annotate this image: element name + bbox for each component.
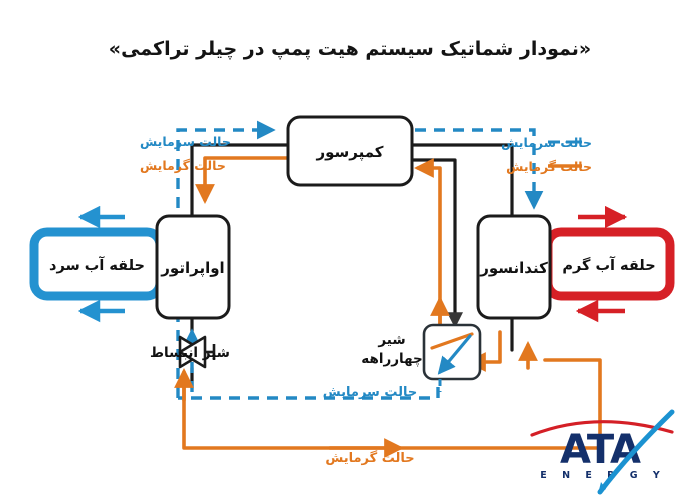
legend-left-heating-label: حالت گرمایش [140,158,226,173]
logo-ata-text: ATA [560,427,641,473]
evaporator-component[interactable]: اواپراتور [157,216,229,318]
logo-tagline-text: E N E R G Y [540,470,665,481]
page-title: «نمودار شماتیک سیستم هیت پمپ در چیلر ترا… [109,38,591,60]
compressor-label: کمپرسور [315,143,383,162]
schematic-diagram: «نمودار شماتیک سیستم هیت پمپ در چیلر ترا… [0,0,700,500]
ata-energy-logo: ATA E N E R G Y [532,412,672,494]
heating-path-valve-to-compressor [418,168,440,330]
bottom-cooling-path-label: حالت سرمایش [323,385,417,400]
legend-right-heating-label: حالت گرمایش [506,159,592,174]
four-way-valve-component[interactable]: شیر چهارراهه [361,325,480,392]
condenser-label: کندانسور [479,259,548,277]
hot-water-loop: حلقه آب گرم [548,217,670,311]
legend-right-cooling-label: حالت سرمایش [501,135,592,150]
cold-water-loop: حلقه آب سرد [34,217,160,311]
legend-left: حالت سرمایش حالت گرمایش [140,134,231,173]
legend-left-cooling-label: حالت سرمایش [140,134,231,149]
pipe-compressor-to-valve [410,160,455,325]
four-way-valve-label-line2: چهارراهه [361,351,422,367]
expansion-valve-component[interactable]: شیر انبساط [150,337,230,367]
bottom-heating-path-label: حالت گرمایش [325,450,414,466]
condenser-component[interactable]: کندانسور [478,216,550,318]
hot-water-loop-label: حلقه آب گرم [562,256,655,274]
cold-water-loop-label: حلقه آب سرد [49,256,145,274]
pipe-compressor-to-condenser [410,145,512,216]
legend-right: حالت سرمایش حالت گرمایش [501,135,592,174]
schematic-canvas: «نمودار شماتیک سیستم هیت پمپ در چیلر ترا… [0,0,700,500]
expansion-valve-label: شیر انبساط [150,345,230,361]
four-way-valve-label-line1: شیر [377,332,405,348]
compressor-component[interactable]: کمپرسور [288,117,412,185]
heating-path-bottom-return [184,360,600,448]
evaporator-label: اواپراتور [160,259,224,278]
